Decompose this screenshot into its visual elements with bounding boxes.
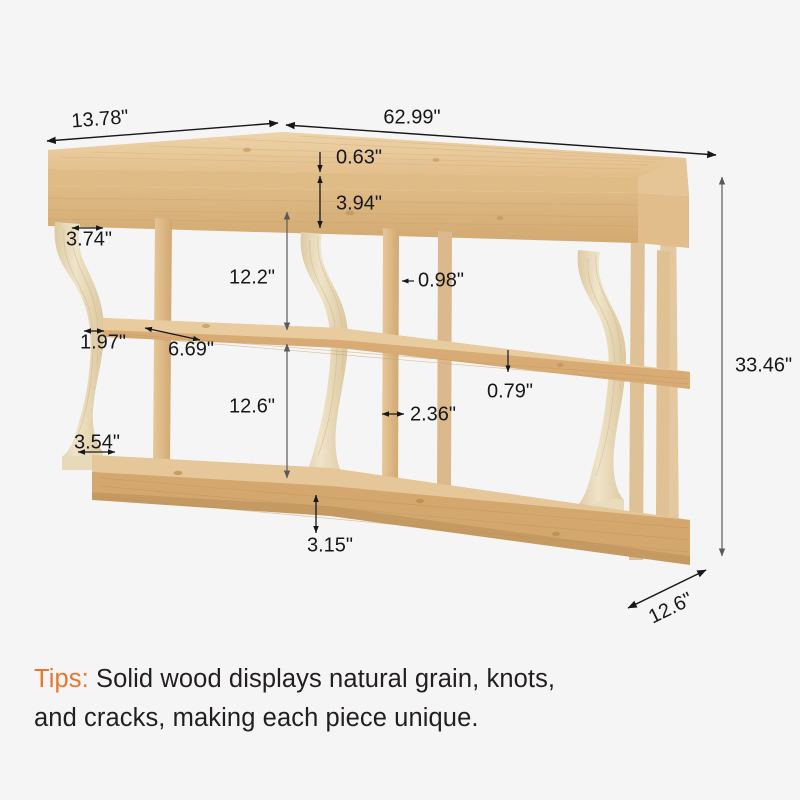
- dim-label-apron-height: 3.94": [336, 192, 382, 214]
- dim-label-height-overall: 33.46": [735, 354, 792, 376]
- dim-label-lower-gap: 12.6": [229, 395, 275, 417]
- dim-label-width-overall: 62.99": [383, 106, 440, 128]
- dim-label-base-thickness: 3.15": [307, 534, 353, 556]
- dim-label-post-width-lower: 2.36": [410, 403, 456, 425]
- dim-label-leg-foot-width: 3.54": [74, 431, 120, 453]
- dim-label-top-thickness: 0.63": [336, 146, 382, 168]
- leg-middle: [300, 232, 348, 497]
- dim-label-leg-top-width: 3.74": [66, 228, 112, 250]
- tips-label: Tips:: [34, 665, 89, 693]
- dim-label-depth-bottom: 12.6": [645, 588, 696, 628]
- tips-text-1: Solid wood displays natural grain, knots…: [89, 665, 555, 693]
- tips-line-1: Tips: Solid wood displays natural grain,…: [34, 660, 734, 699]
- diagram-canvas: 13.78" 62.99" 0.63" 3.94" 3.74" 12.2" 0.…: [0, 0, 800, 800]
- tips-caption: Tips: Solid wood displays natural grain,…: [34, 660, 734, 738]
- dim-label-leg-mid-width: 1.97": [80, 331, 126, 353]
- dim-label-upper-gap: 12.2": [229, 266, 275, 288]
- leg-right: [578, 250, 626, 520]
- dim-label-depth-top-left: 13.78": [71, 106, 130, 132]
- dim-label-post-thickness: 0.98": [418, 269, 464, 291]
- dim-label-shelf-depth: 6.69": [168, 338, 214, 360]
- dim-label-shelf-thickness: 0.79": [487, 380, 533, 402]
- tips-line-2: and cracks, making each piece unique.: [34, 699, 734, 738]
